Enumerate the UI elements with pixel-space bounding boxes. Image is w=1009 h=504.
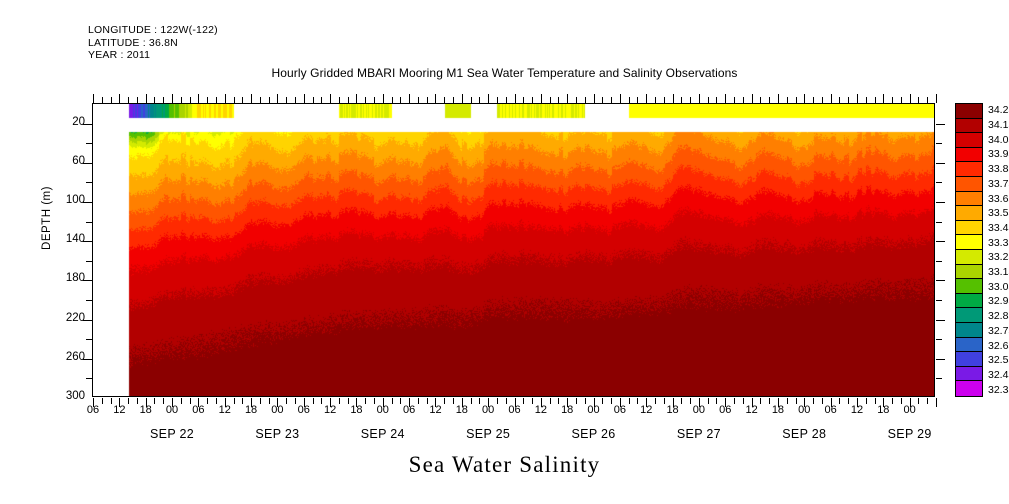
colorbar-band <box>956 294 982 309</box>
colorbar-tick-label: 33.55 <box>988 207 1009 219</box>
colorbar-tick-label: 33.65 <box>988 193 1009 205</box>
contour-field <box>93 104 934 396</box>
colorbar-tick-label: 32.75 <box>988 325 1009 337</box>
colorbar-band <box>956 235 982 250</box>
x-axis-tick <box>901 97 902 103</box>
colorbar-tick-label: 34.05 <box>988 134 1009 146</box>
x-axis-tick <box>927 97 928 103</box>
x-axis-tick <box>796 97 797 103</box>
x-axis-tick <box>594 94 595 103</box>
x-axis-tick <box>778 94 779 103</box>
longitude-text: LONGITUDE : 122W(-122) <box>88 24 218 37</box>
x-axis-tick <box>348 97 349 103</box>
x-axis-tick <box>910 94 911 103</box>
salinity-heatmap-canvas <box>93 104 934 396</box>
colorbar-band <box>956 206 982 221</box>
x-axis-tick <box>497 97 498 103</box>
station-metadata: LONGITUDE : 122W(-122) LATITUDE : 36.8N … <box>88 24 218 62</box>
x-axis-tick <box>550 97 551 103</box>
x-axis-day-label: SEP 24 <box>338 427 428 441</box>
x-axis-tick <box>839 97 840 103</box>
x-axis-tick <box>664 97 665 103</box>
x-axis-tick <box>813 97 814 103</box>
colorbar-band <box>956 192 982 207</box>
y-axis-tick <box>86 222 92 223</box>
x-axis-tick <box>892 97 893 103</box>
plot-caption: Sea Water Salinity <box>0 452 1009 478</box>
salinity-section-plot: DEPTH (m) 061218000612180006121800061218… <box>92 103 935 397</box>
y-axis-tick <box>936 359 945 360</box>
y-axis-depth-label: 20 <box>39 116 85 128</box>
y-axis-tick <box>936 143 942 144</box>
x-axis-tick <box>400 97 401 103</box>
y-axis-tick <box>86 261 92 262</box>
x-axis-tick <box>330 94 331 103</box>
x-axis-tick <box>479 97 480 103</box>
x-axis-tick <box>804 94 805 103</box>
x-axis-tick <box>743 97 744 103</box>
x-axis-tick <box>831 94 832 103</box>
y-axis-tick <box>936 261 942 262</box>
x-axis-tick <box>119 94 120 103</box>
colorbar-band <box>956 104 982 119</box>
x-axis-day-label: SEP 22 <box>127 427 217 441</box>
x-axis-tick <box>585 97 586 103</box>
x-axis-hour-label: 00 <box>890 404 930 416</box>
x-axis-tick <box>708 97 709 103</box>
y-axis-depth-label: 60 <box>39 155 85 167</box>
colorbar-tick-label: 33.75 <box>988 178 1009 190</box>
colorbar-band <box>956 177 982 192</box>
x-axis-tick <box>444 97 445 103</box>
x-axis-tick <box>137 97 138 103</box>
colorbar-tick-label: 32.65 <box>988 340 1009 352</box>
x-axis-tick <box>681 97 682 103</box>
y-axis-depth-label: 140 <box>39 233 85 245</box>
y-axis-tick <box>86 182 92 183</box>
y-axis-tick <box>936 320 945 321</box>
y-axis-tick <box>936 182 942 183</box>
y-axis-depth-label: 100 <box>39 194 85 206</box>
colorbar-band <box>956 308 982 323</box>
x-axis-tick <box>515 94 516 103</box>
y-axis-tick <box>86 300 92 301</box>
x-axis-tick <box>488 94 489 103</box>
x-axis-tick <box>198 94 199 103</box>
x-axis-tick <box>620 94 621 103</box>
x-axis-tick <box>725 94 726 103</box>
x-axis-tick <box>787 97 788 103</box>
x-axis-tick <box>629 97 630 103</box>
y-axis-depth-label: 180 <box>39 272 85 284</box>
year-text: YEAR : 2011 <box>88 49 218 62</box>
y-axis-tick <box>86 339 92 340</box>
x-axis-tick <box>453 97 454 103</box>
x-axis-tick <box>146 94 147 103</box>
x-axis-tick <box>427 97 428 103</box>
colorbar-tick-label: 32.85 <box>988 310 1009 322</box>
x-axis-tick <box>760 97 761 103</box>
x-axis-tick <box>286 97 287 103</box>
x-axis-tick <box>251 94 252 103</box>
x-axis-tick <box>883 94 884 103</box>
x-axis-tick <box>567 94 568 103</box>
x-axis-tick <box>769 97 770 103</box>
x-axis-tick <box>111 97 112 103</box>
y-axis-tick <box>936 300 942 301</box>
x-axis-tick <box>216 97 217 103</box>
x-axis-tick <box>356 94 357 103</box>
x-axis-tick <box>242 97 243 103</box>
x-axis-tick <box>611 97 612 103</box>
x-axis-day-label: SEP 25 <box>443 427 533 441</box>
colorbar <box>955 103 983 397</box>
x-axis-tick <box>936 398 937 407</box>
colorbar-band <box>956 250 982 265</box>
x-axis-tick <box>374 97 375 103</box>
y-axis-depth-label: 260 <box>39 351 85 363</box>
x-axis-tick <box>637 97 638 103</box>
colorbar-band <box>956 162 982 177</box>
x-axis-tick <box>190 97 191 103</box>
colorbar-tick-label: 34.15 <box>988 119 1009 131</box>
y-axis-tick <box>936 241 945 242</box>
y-axis-tick <box>936 222 942 223</box>
x-axis-tick <box>506 97 507 103</box>
x-axis-day-label: SEP 23 <box>232 427 322 441</box>
colorbar-tick-label: 33.85 <box>988 163 1009 175</box>
x-axis-tick <box>365 97 366 103</box>
x-axis-tick <box>339 97 340 103</box>
x-axis-tick <box>277 94 278 103</box>
colorbar-tick-label: 33.35 <box>988 237 1009 249</box>
x-axis-day-label: SEP 29 <box>865 427 955 441</box>
colorbar-band <box>956 381 982 396</box>
x-axis-tick <box>866 97 867 103</box>
x-axis-tick <box>655 97 656 103</box>
colorbar-tick-label: 32.35 <box>988 384 1009 396</box>
colorbar-band <box>956 367 982 382</box>
colorbar-band <box>956 279 982 294</box>
x-axis-tick <box>936 94 937 103</box>
colorbar-band <box>956 338 982 353</box>
x-axis-tick <box>699 94 700 103</box>
x-axis-day-label: SEP 26 <box>549 427 639 441</box>
x-axis-tick <box>532 97 533 103</box>
x-axis-tick <box>848 97 849 103</box>
y-axis-tick <box>936 163 945 164</box>
chart-title: Hourly Gridded MBARI Mooring M1 Sea Wate… <box>0 66 1009 80</box>
x-axis-tick <box>154 97 155 103</box>
x-axis-tick <box>409 94 410 103</box>
x-axis-tick <box>857 94 858 103</box>
y-axis-tick <box>936 339 942 340</box>
x-axis-tick <box>541 94 542 103</box>
y-axis-tick <box>86 378 92 379</box>
colorbar-band <box>956 148 982 163</box>
x-axis-tick <box>234 97 235 103</box>
x-axis-tick <box>269 97 270 103</box>
x-axis-tick <box>172 94 173 103</box>
y-axis-tick <box>936 124 945 125</box>
x-axis-tick <box>822 97 823 103</box>
colorbar-tick-label: 34.25 <box>988 104 1009 116</box>
colorbar-tick-label: 32.55 <box>988 354 1009 366</box>
x-axis-tick <box>392 97 393 103</box>
x-axis-tick <box>383 94 384 103</box>
y-axis-tick <box>936 378 942 379</box>
colorbar-band <box>956 265 982 280</box>
x-axis-tick <box>418 97 419 103</box>
x-axis-tick <box>304 94 305 103</box>
colorbar-band <box>956 323 982 338</box>
latitude-text: LATITUDE : 36.8N <box>88 37 218 50</box>
y-axis-depth-label: 300 <box>39 390 85 402</box>
colorbar-band <box>956 119 982 134</box>
x-axis-tick <box>225 94 226 103</box>
colorbar-tick-label: 33.45 <box>988 222 1009 234</box>
x-axis-tick <box>602 97 603 103</box>
x-axis-tick <box>93 94 94 103</box>
y-axis-tick <box>86 143 92 144</box>
y-axis-depth-label: 220 <box>39 312 85 324</box>
colorbar-tick-label: 33.05 <box>988 281 1009 293</box>
x-axis-tick <box>690 97 691 103</box>
x-axis-tick <box>435 94 436 103</box>
x-axis-tick <box>523 97 524 103</box>
x-axis-tick <box>313 97 314 103</box>
x-axis-tick <box>576 97 577 103</box>
colorbar-band <box>956 221 982 236</box>
colorbar-tick-label: 32.95 <box>988 295 1009 307</box>
x-axis-tick <box>918 97 919 103</box>
x-axis-tick <box>462 94 463 103</box>
colorbar-tick-label: 32.45 <box>988 369 1009 381</box>
colorbar-tick-label: 33.95 <box>988 148 1009 160</box>
colorbar-band <box>956 352 982 367</box>
colorbar-tick-label: 33.15 <box>988 266 1009 278</box>
colorbar-band <box>956 133 982 148</box>
y-axis-tick <box>936 280 945 281</box>
x-axis-tick <box>716 97 717 103</box>
x-axis-day-label: SEP 27 <box>654 427 744 441</box>
x-axis-tick <box>295 97 296 103</box>
x-axis-tick <box>260 97 261 103</box>
x-axis-tick <box>181 97 182 103</box>
x-axis-tick <box>163 97 164 103</box>
x-axis-tick <box>673 94 674 103</box>
x-axis-tick <box>646 94 647 103</box>
x-axis-tick <box>207 97 208 103</box>
x-axis-tick <box>102 97 103 103</box>
x-axis-tick <box>752 94 753 103</box>
x-axis-tick <box>128 97 129 103</box>
colorbar-tick-label: 33.25 <box>988 251 1009 263</box>
x-axis-tick <box>734 97 735 103</box>
y-axis-tick <box>936 202 945 203</box>
x-axis-day-label: SEP 28 <box>759 427 849 441</box>
x-axis-tick <box>875 97 876 103</box>
x-axis-tick <box>321 97 322 103</box>
x-axis-tick <box>471 97 472 103</box>
x-axis-tick <box>558 97 559 103</box>
